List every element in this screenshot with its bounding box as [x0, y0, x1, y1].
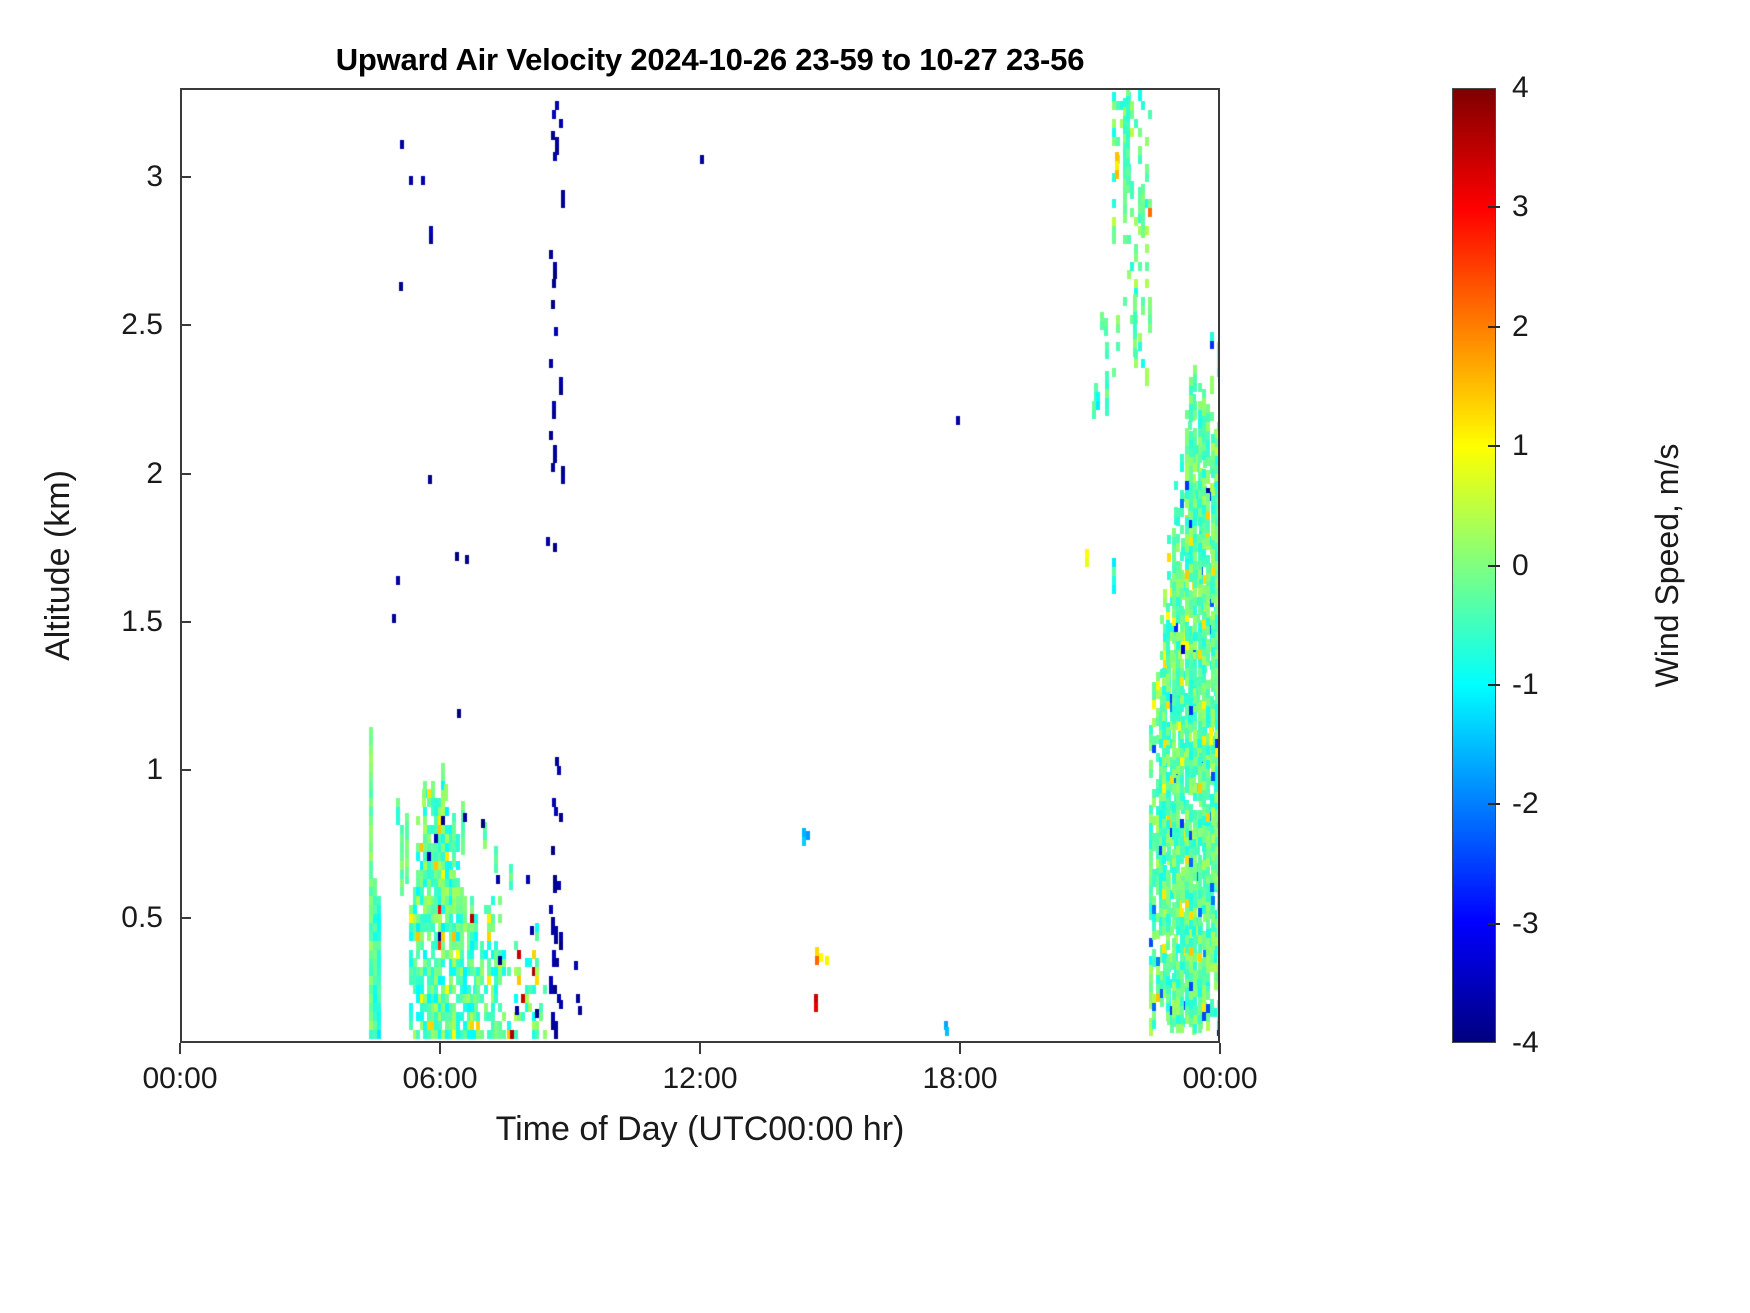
y-tick-1	[180, 769, 191, 771]
y-tick-5	[180, 176, 191, 178]
colorbar-ticklabel-2: 2	[1512, 310, 1529, 344]
x-ticklabel-3: 18:00	[922, 1062, 997, 1096]
colorbar-ticklabel-3: 1	[1512, 429, 1529, 463]
colorbar-tick-1	[1488, 206, 1500, 208]
colorbar-label: Wind Speed, m/s	[1646, 88, 1688, 1043]
colorbar-ticklabel-6: -2	[1512, 787, 1539, 821]
colorbar-tick-5	[1488, 684, 1500, 686]
y-ticklabel-2: 1.5	[121, 605, 163, 639]
y-ticklabel-0: 0.5	[121, 901, 163, 935]
y-tick-0	[180, 917, 191, 919]
x-ticklabel-1: 06:00	[402, 1062, 477, 1096]
y-tick-2	[180, 621, 191, 623]
x-tick-2	[699, 1043, 701, 1054]
colorbar-ticklabel-1: 3	[1512, 190, 1529, 224]
colorbar-ticklabel-0: 4	[1512, 71, 1529, 105]
x-tick-0	[179, 1043, 181, 1054]
x-tick-1	[439, 1043, 441, 1054]
x-tick-3	[959, 1043, 961, 1054]
colorbar-tick-7	[1488, 923, 1500, 925]
colorbar-tick-6	[1488, 803, 1500, 805]
figure-canvas: Upward Air Velocity 2024-10-26 23-59 to …	[0, 0, 1750, 1313]
y-ticklabel-5: 3	[146, 160, 163, 194]
y-axis-label: Altitude (km)	[35, 88, 81, 1043]
colorbar-ticklabel-7: -3	[1512, 907, 1539, 941]
heatmap-data-layer	[182, 90, 1218, 1041]
x-ticklabel-2: 12:00	[662, 1062, 737, 1096]
colorbar-ticklabel-4: 0	[1512, 549, 1529, 583]
x-ticklabel-4: 00:00	[1182, 1062, 1257, 1096]
colorbar-tick-3	[1488, 445, 1500, 447]
y-ticklabel-1: 1	[146, 753, 163, 787]
x-tick-4	[1219, 1043, 1221, 1054]
y-ticklabel-3: 2	[146, 457, 163, 491]
colorbar-ticklabel-8: -4	[1512, 1026, 1539, 1060]
y-tick-3	[180, 473, 191, 475]
page-title: Upward Air Velocity 2024-10-26 23-59 to …	[180, 42, 1240, 78]
plot-axes	[180, 88, 1220, 1043]
x-ticklabel-0: 00:00	[142, 1062, 217, 1096]
colorbar-tick-2	[1488, 326, 1500, 328]
colorbar-ticklabel-5: -1	[1512, 668, 1539, 702]
x-axis-label: Time of Day (UTC00:00 hr)	[180, 1110, 1220, 1149]
y-ticklabel-4: 2.5	[121, 308, 163, 342]
y-tick-4	[180, 324, 191, 326]
colorbar-tick-4	[1488, 565, 1500, 567]
